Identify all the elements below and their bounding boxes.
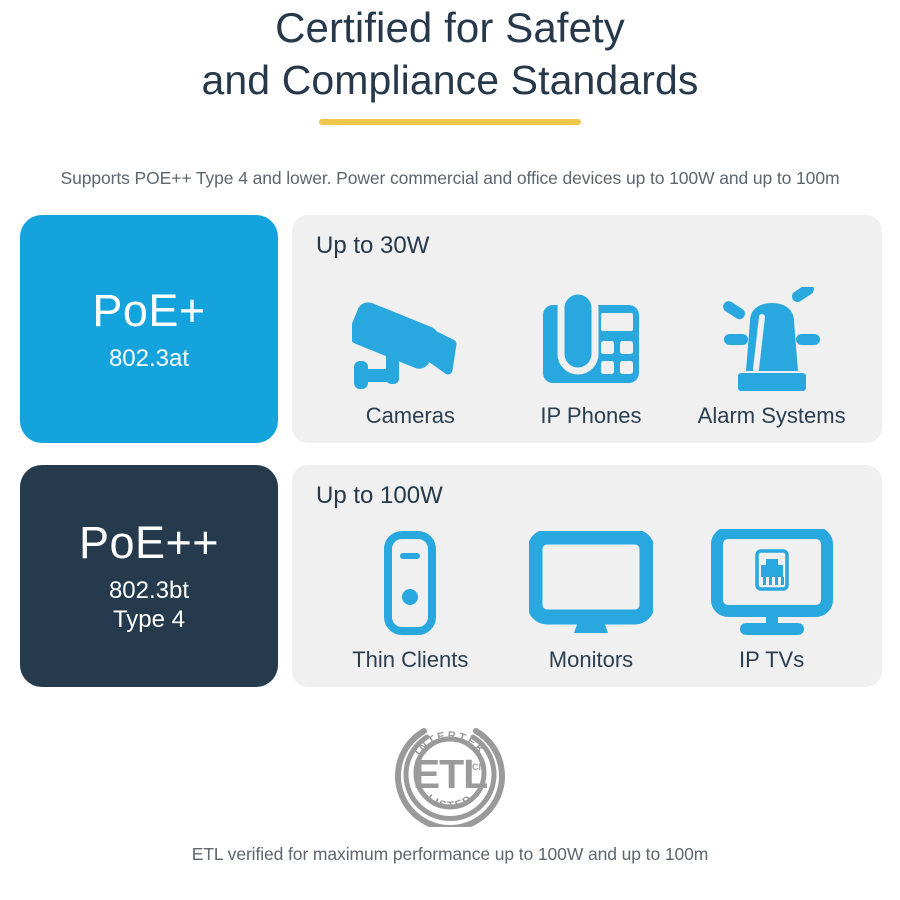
etl-center-text: ETL (413, 751, 487, 797)
poe-row: PoE++ 802.3bt Type 4 Up to 100W (20, 465, 882, 687)
device-label: Thin Clients (352, 647, 468, 673)
devices-panel-30w: Up to 30W (292, 215, 882, 443)
header: Certified for Safety and Compliance Stan… (0, 0, 900, 125)
device-item-alarm-systems: Alarm Systems (682, 279, 861, 429)
poe-plusplus-badge-card: PoE++ 802.3bt Type 4 (20, 465, 278, 687)
security-camera-icon (352, 279, 468, 399)
footer: ETL CM INTERTEK LISTED ETL verified for … (0, 715, 900, 865)
device-label: IP TVs (739, 647, 804, 673)
device-item-cameras: Cameras (321, 279, 500, 429)
etl-superscript: CM (472, 762, 486, 772)
badge-title: PoE++ (79, 518, 219, 568)
title-underline-wrap (0, 119, 900, 125)
infographic-page: Certified for Safety and Compliance Stan… (0, 0, 900, 900)
badge-title: PoE+ (92, 286, 205, 336)
panel-heading: Up to 100W (316, 482, 866, 510)
device-list: Thin Clients Monitors (316, 510, 866, 677)
devices-panel-100w: Up to 100W Thin Clients (292, 465, 882, 687)
thin-client-icon (380, 523, 440, 643)
panel-heading: Up to 30W (316, 232, 866, 260)
badge-standard: 802.3bt Type 4 (109, 576, 189, 634)
device-label: Cameras (366, 403, 455, 429)
ip-tv-icon (710, 523, 834, 643)
badge-type-line: Type 4 (109, 605, 189, 634)
poe-rows: PoE+ 802.3at Up to 30W (0, 215, 900, 687)
poe-plus-badge-card: PoE+ 802.3at (20, 215, 278, 443)
device-item-thin-clients: Thin Clients (321, 523, 500, 673)
device-label: Monitors (549, 647, 633, 673)
title-underline-accent (319, 119, 581, 125)
device-label: Alarm Systems (698, 403, 846, 429)
device-item-ip-phones: IP Phones (502, 279, 681, 429)
badge-standard: 802.3at (109, 344, 189, 373)
device-item-ip-tvs: IP TVs (682, 523, 861, 673)
footer-note-text: ETL verified for maximum performance up … (192, 843, 708, 865)
subtitle-text: Supports POE++ Type 4 and lower. Power c… (0, 167, 900, 189)
device-item-monitors: Monitors (502, 523, 681, 673)
page-title-line-1: Certified for Safety (0, 2, 900, 54)
poe-row: PoE+ 802.3at Up to 30W (20, 215, 882, 443)
monitor-icon (529, 523, 653, 643)
device-list: Cameras (316, 260, 866, 433)
alarm-siren-icon (710, 279, 834, 399)
ip-phone-icon (539, 279, 643, 399)
device-label: IP Phones (540, 403, 641, 429)
badge-standard-line: 802.3bt (109, 576, 189, 605)
etl-listed-badge-icon: ETL CM INTERTEK LISTED (391, 715, 509, 827)
page-title-line-2: and Compliance Standards (0, 54, 900, 106)
